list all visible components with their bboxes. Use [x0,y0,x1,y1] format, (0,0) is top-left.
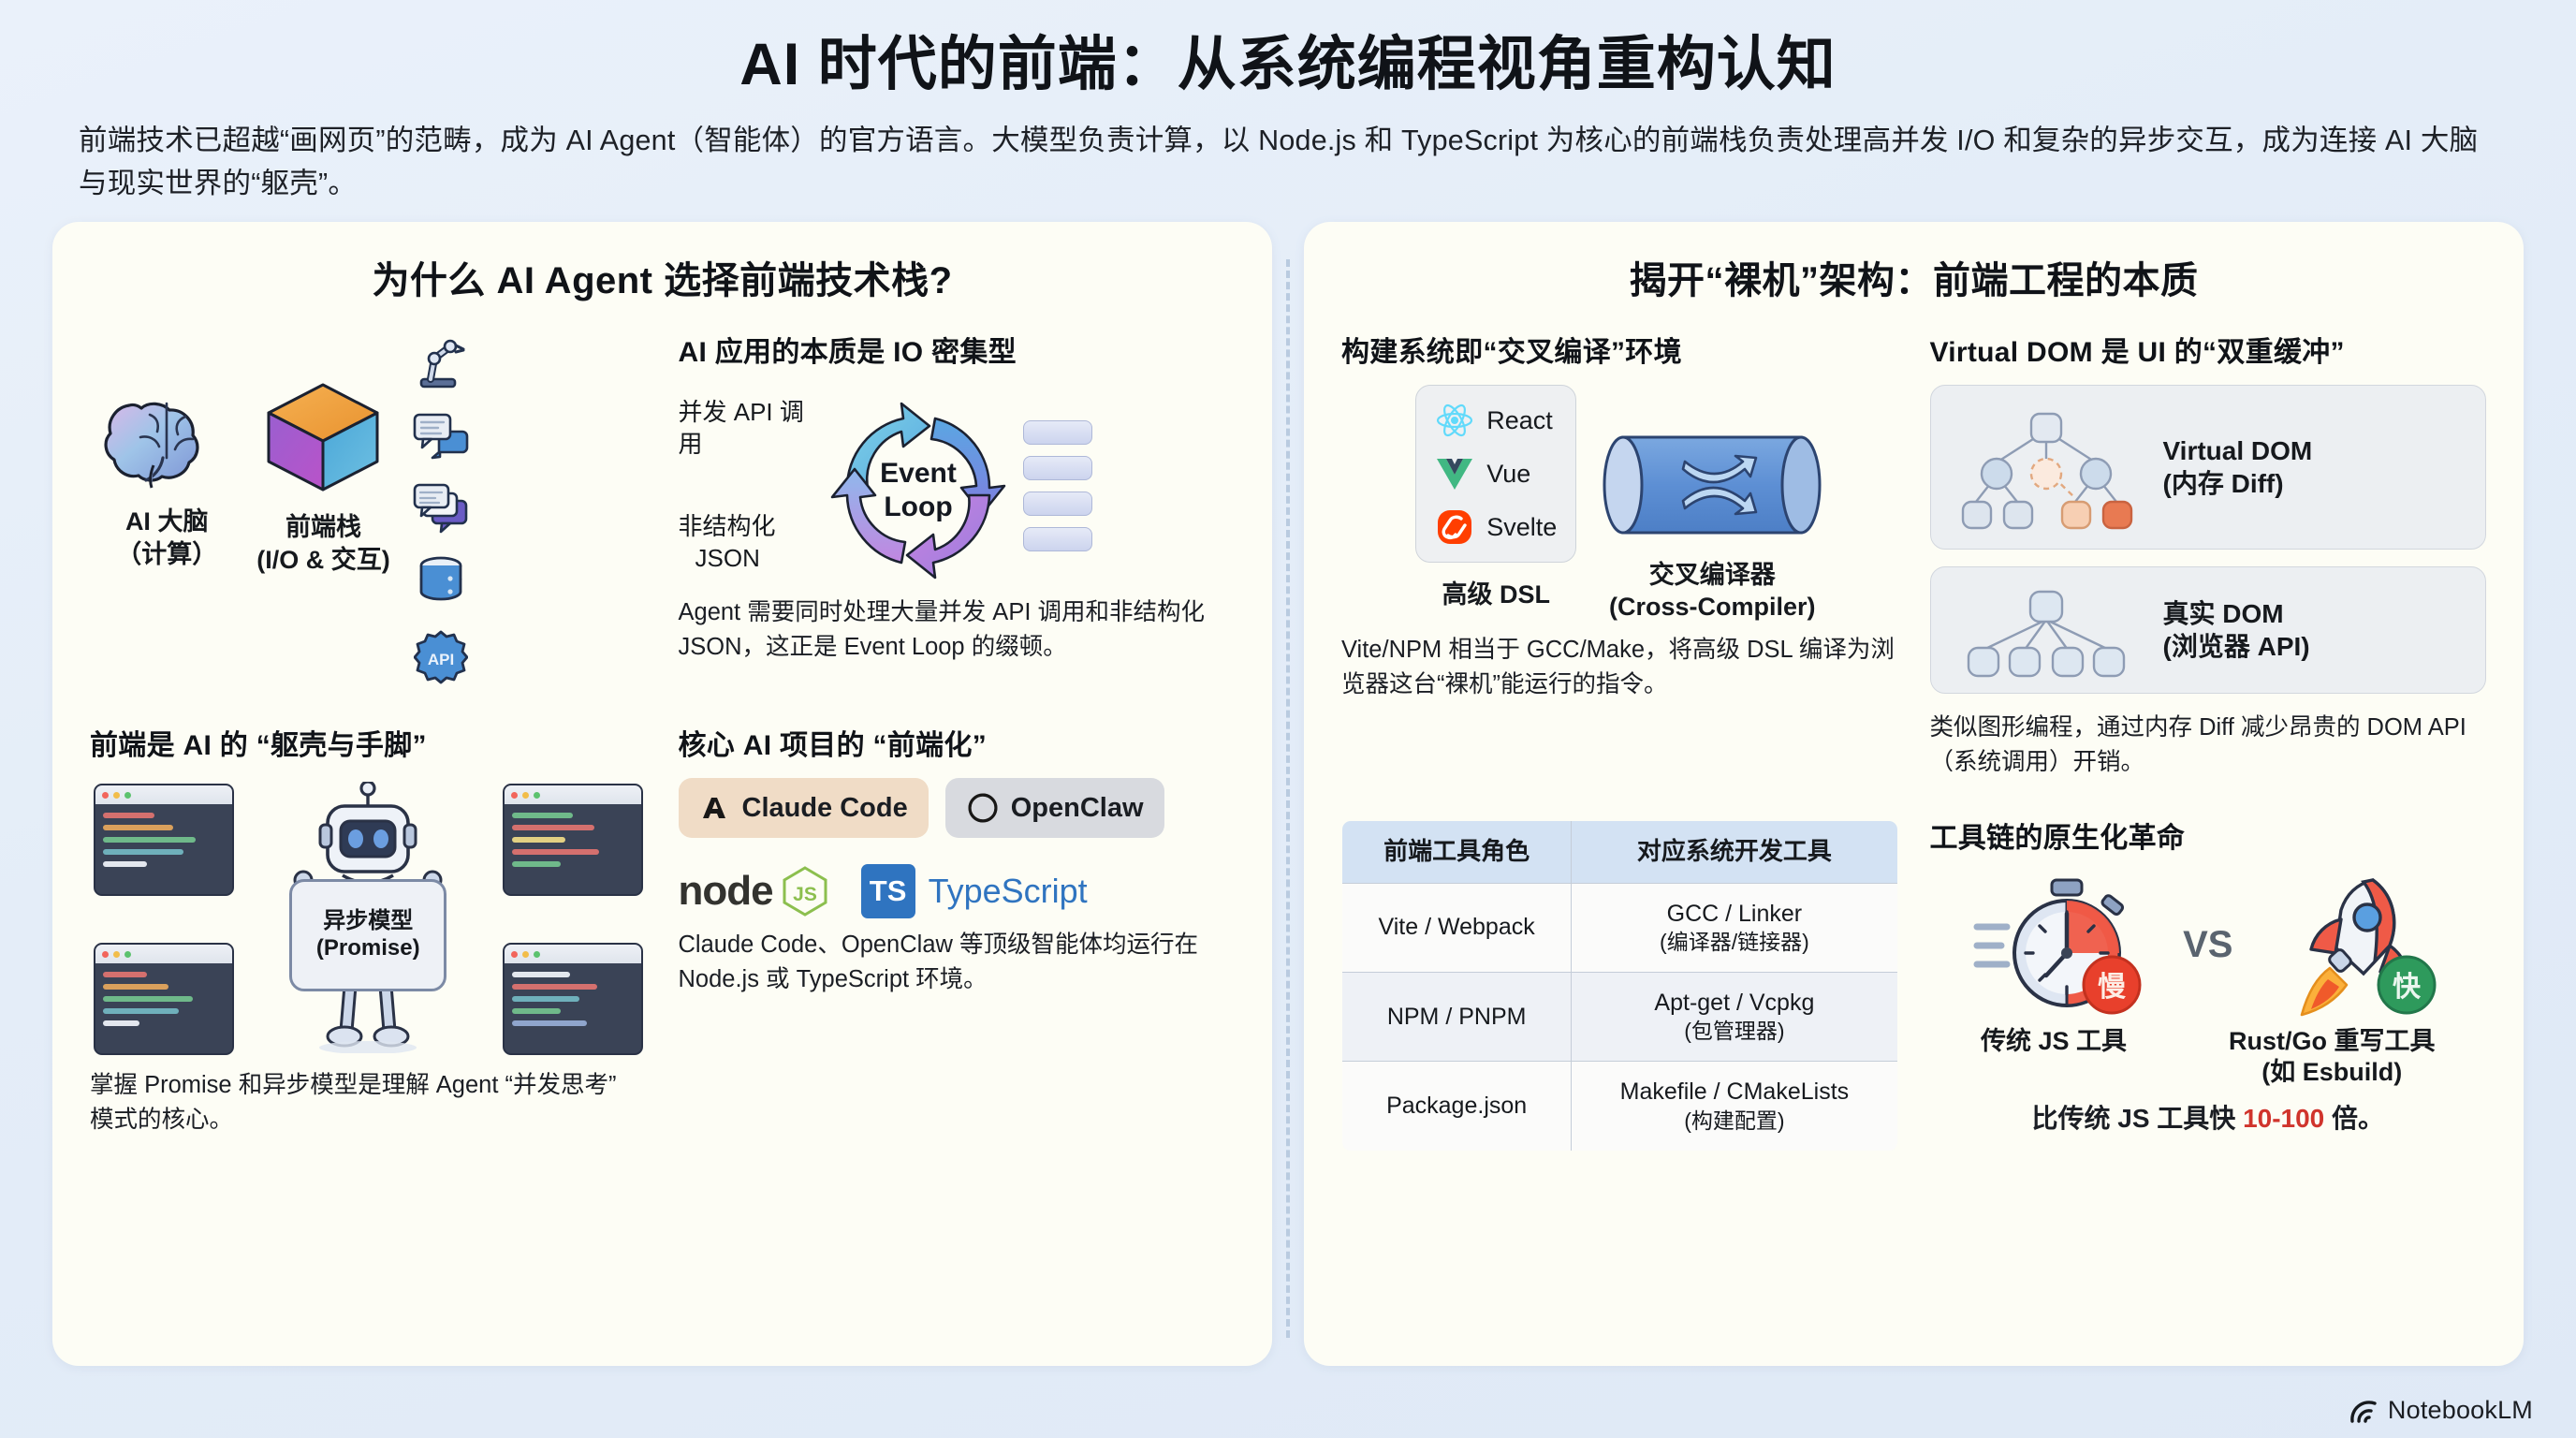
dsl-label-vue: Vue [1486,460,1530,489]
right-panel: 揭开“裸机”架构：前端工程的本质 构建系统即“交叉编译”环境 [1304,222,2524,1366]
right-panel-title: 揭开“裸机”架构：前端工程的本质 [1341,250,2486,304]
queue-bar [1023,492,1092,516]
node-label: node [679,868,773,915]
chat-bubbles-icon [412,411,470,462]
virtual-dom-tree-icon [1948,397,2154,537]
table-row: NPM / PNPM Apt-get / Vcpkg (包管理器) [1342,972,1898,1061]
toolchain-section: 工具链的原生化革命 慢 [1930,814,2487,1152]
rocket-fast-icon: 快 [2257,871,2444,1020]
vue-logo-icon [1435,455,1474,492]
tooling-comparison-table: 前端工具角色 对应系统开发工具 Vite / Webpack GCC / Lin… [1341,820,1898,1152]
openclaw-label: OpenClaw [1011,793,1144,824]
virtual-dom-label: Virtual DOM (内存 Diff) [2163,434,2313,500]
svg-text:API: API [427,651,453,668]
node-js-label: JS [793,884,817,905]
event-loop-label-line1: Event [880,458,957,489]
table-header-frontend: 前端工具角色 [1342,820,1572,883]
dsl-label-svelte: Svelte [1486,513,1557,542]
dsl-caption: 高级 DSL [1415,574,1576,610]
dsl-framework-box: React Vue [1415,385,1576,563]
code-window [503,784,643,896]
page-header: AI 时代的前端：从系统编程视角重构认知 前端技术已超越“画网页”的范畴，成为 … [0,0,2576,205]
table-row: Package.json Makefile / CMakeLists (构建配置… [1342,1062,1898,1151]
code-window [503,943,643,1055]
build-system-title: 构建系统即“交叉编译”环境 [1341,329,1898,370]
vdom-section-caption: 类似图形编程，通过内存 Diff 减少昂贵的 DOM API（系统调用）开销。 [1930,711,2487,780]
compiler-caption: 交叉编译器 (Cross-Compiler) [1601,560,1823,624]
nodejs-logo: node JS [679,865,829,917]
notebooklm-watermark: NotebookLM [2349,1395,2533,1425]
rust-go-label: Rust/Go 重写工具 (如 Esbuild) [2229,1026,2436,1090]
page-subtitle: 前端技术已超越“画网页”的范畴，成为 AI Agent（智能体）的官方语言。大模… [79,119,2497,206]
dsl-label-react: React [1486,406,1553,435]
tooling-table-wrap: 前端工具角色 对应系统开发工具 Vite / Webpack GCC / Lin… [1341,814,1898,1152]
io-intensive-section: AI 应用的本质是 IO 密集型 并发 API 调用 非结构化 JSON [679,329,1236,684]
nodejs-hex-icon: JS [781,865,829,917]
openai-logo-icon [966,791,1000,825]
speed-multiplier: 10-100 [2243,1104,2324,1133]
projects-section: 核心 AI 项目的 “前端化” Claude Code [679,722,1236,1137]
dsl-item-vue: Vue [1435,455,1557,492]
projects-section-caption: Claude Code、OpenClaw 等顶级智能体均运行在 Node.js … [679,928,1236,997]
table-cell-system-tool: GCC / Linker (编译器/链接器) [1572,883,1897,972]
cross-compiler-icon [1601,424,1823,546]
panel-divider [1286,259,1290,1338]
vdom-section-title: Virtual DOM 是 UI 的“双重缓冲” [1930,329,2487,370]
api-gear-icon: API [414,630,468,684]
robot-section-caption: 掌握 Promise 和异步模型是理解 Agent “并发思考” 模式的核心。 [90,1068,647,1137]
io-tag-concurrent-api: 并发 API 调用 [679,397,819,461]
multi-chat-icon [412,482,470,535]
slow-badge-label: 慢 [2098,972,2127,1003]
table-header-row: 前端工具角色 对应系统开发工具 [1342,820,1898,883]
table-cell-frontend-tool: Vite / Webpack [1342,883,1572,972]
openclaw-chip[interactable]: OpenClaw [945,778,1164,838]
left-panel-title: 为什么 AI Agent 选择前端技术栈? [90,250,1235,304]
cube-icon [263,379,383,495]
toolchain-caption: 比传统 JS 工具快 10-100 倍。 [1930,1100,2487,1138]
ai-brain-frontend-art: AI 大脑 （计算） [90,329,647,684]
queue-bars [1023,420,1092,551]
async-promise-box: 异步模型 (Promise) [289,879,446,991]
table-cell-system-tool: Makefile / CMakeLists (构建配置) [1572,1062,1897,1151]
claude-code-label: Claude Code [742,793,908,824]
io-icon-rail: API [402,329,479,684]
ai-brain-item: AI 大脑 （计算） [101,379,232,576]
event-loop-icon: Event Loop [825,385,1012,586]
robot-section: 前端是 AI 的 “躯壳与手脚” [90,722,647,1137]
code-window [94,784,234,896]
typescript-logo: TS TypeScript [861,864,1088,918]
projects-section-title: 核心 AI 项目的 “前端化” [679,722,1236,763]
real-dom-tree-icon [1948,579,2154,682]
ts-badge: TS [861,864,915,918]
panels-board: 为什么 AI Agent 选择前端技术栈? [0,205,2576,1366]
page-title: AI 时代的前端：从系统编程视角重构认知 [79,32,2497,98]
anthropic-logo-icon [699,792,731,824]
queue-bar [1023,527,1092,551]
event-loop-label-line2: Loop [884,492,952,522]
database-icon [415,555,467,609]
brain-icon [101,379,232,490]
table-cell-system-tool: Apt-get / Vcpkg (包管理器) [1572,972,1897,1061]
io-section-title: AI 应用的本质是 IO 密集型 [679,329,1236,370]
frontend-stack-label: 前端栈 (I/O & 交互) [256,511,390,576]
queue-bar [1023,420,1092,445]
typescript-label: TypeScript [929,872,1088,911]
real-dom-label: 真实 DOM (浏览器 API) [2163,597,2310,663]
table-cell-frontend-tool: Package.json [1342,1062,1572,1151]
react-logo-icon [1435,401,1474,440]
fast-badge-label: 快 [2393,972,2422,1003]
vs-label: VS [2183,924,2232,966]
io-tag-unstructured-json: 非结构化 JSON [679,511,819,575]
io-section-caption: Agent 需要同时处理大量并发 API 调用和非结构化 JSON，这正是 Ev… [679,595,1236,665]
notebooklm-logo-icon [2349,1395,2378,1425]
build-system-section: 构建系统即“交叉编译”环境 React [1341,329,1898,780]
stopwatch-slow-icon: 慢 [1971,871,2159,1020]
notebooklm-label: NotebookLM [2388,1396,2533,1425]
code-window [94,943,234,1055]
dsl-item-svelte: Svelte [1435,507,1557,547]
table-header-system: 对应系统开发工具 [1572,820,1897,883]
real-dom-box: 真实 DOM (浏览器 API) [1930,566,2487,694]
queue-bar [1023,456,1092,480]
ai-brain-label: AI 大脑 （计算） [101,506,232,570]
table-row: Vite / Webpack GCC / Linker (编译器/链接器) [1342,883,1898,972]
traditional-js-label: 传统 JS 工具 [1981,1026,2127,1090]
virtual-dom-box: Virtual DOM (内存 Diff) [1930,385,2487,550]
svelte-logo-icon [1435,507,1474,547]
frontend-stack-item: 前端栈 (I/O & 交互) [256,379,390,576]
build-system-caption: Vite/NPM 相当于 GCC/Make，将高级 DSL 编译为浏览器这台“裸… [1341,633,1898,702]
claude-code-chip[interactable]: Claude Code [679,778,929,838]
robot-section-title: 前端是 AI 的 “躯壳与手脚” [90,722,647,763]
robot-arm-icon [412,332,470,390]
dsl-item-react: React [1435,401,1557,440]
table-cell-frontend-tool: NPM / PNPM [1342,972,1572,1061]
left-panel: 为什么 AI Agent 选择前端技术栈? [52,222,1272,1366]
io-tags: 并发 API 调用 非结构化 JSON [679,397,819,574]
vdom-section: Virtual DOM 是 UI 的“双重缓冲” [1930,329,2487,780]
toolchain-section-title: 工具链的原生化革命 [1930,814,2487,856]
